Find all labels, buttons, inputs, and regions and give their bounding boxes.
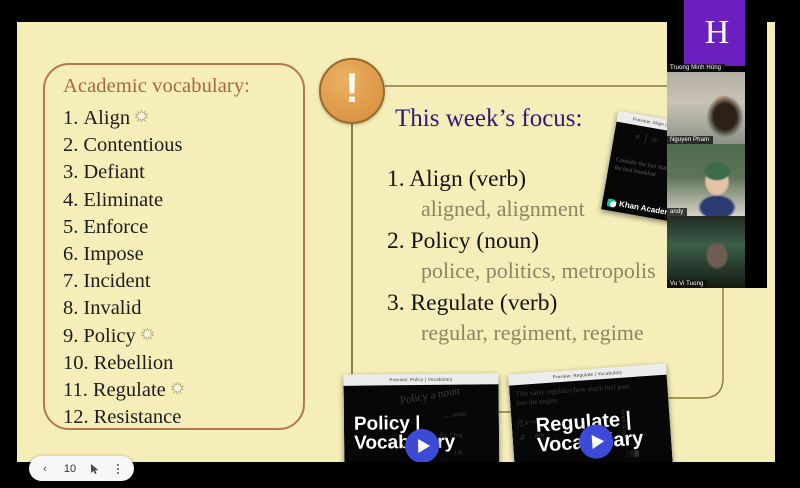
vocabulary-item-word: Align <box>83 105 130 132</box>
vocabulary-item-number: 8. <box>63 295 78 322</box>
tile-letterbox <box>745 0 767 72</box>
participant-video-strip[interactable]: H Truong Minh Hùng Nguyen Pham andy Vu V… <box>667 0 767 288</box>
sparkle-icon <box>135 110 148 123</box>
play-button[interactable] <box>405 429 439 462</box>
vocabulary-item-number: 3. <box>63 159 78 186</box>
attention-badge[interactable]: ! <box>319 58 385 124</box>
avatar: H <box>684 0 750 66</box>
vocabulary-item-word: Impose <box>83 241 143 268</box>
more-vertical-icon <box>117 464 119 474</box>
tile-letterbox <box>745 144 767 216</box>
participant-tile[interactable]: Vu Vi Tuong <box>667 216 767 288</box>
vocabulary-item: 1.Align <box>63 105 301 132</box>
more-options-button[interactable] <box>107 458 129 479</box>
focus-panel-title: This week’s focus: <box>395 105 582 133</box>
vocabulary-item-word: Incident <box>83 268 150 295</box>
vocabulary-panel-title: Academic vocabulary: <box>63 75 250 98</box>
vocabulary-item: 7.Incident <box>63 268 301 295</box>
sparkle-icon <box>141 328 154 341</box>
vocabulary-item-word: Regulate <box>93 377 166 404</box>
vocabulary-item-word: Enforce <box>83 214 148 241</box>
focus-item-forms: regular, regiment, regime <box>387 318 747 348</box>
slide-navigation-toolbar[interactable]: ‹ 10 <box>29 456 134 481</box>
vocabulary-item: 2.Contentious <box>63 132 301 159</box>
vocabulary-item-number: 6. <box>63 241 78 268</box>
slide-canvas[interactable]: Academic vocabulary: 1.Align2.Contentiou… <box>17 22 775 462</box>
participant-tile[interactable]: H Truong Minh Hùng <box>667 0 767 72</box>
vocabulary-item-number: 11. <box>63 377 88 404</box>
vocabulary-item-number: 9. <box>63 323 78 350</box>
vocabulary-item-word: Contentious <box>83 132 182 159</box>
vocabulary-item: 6.Impose <box>63 241 301 268</box>
vocabulary-item-word: Resistance <box>94 404 182 431</box>
vocabulary-item-word: Rebellion <box>94 350 174 377</box>
vocabulary-item: 11.Regulate <box>63 377 301 404</box>
participant-name: Truong Minh Hùng <box>667 64 725 73</box>
video-card-thumbnail[interactable]: Policy a noun ← noun Ex. Cong UK o'clock… <box>344 384 500 462</box>
focus-item: 3. Regulate (verb)regular, regiment, reg… <box>387 288 747 348</box>
participant-tile[interactable]: Nguyen Pham <box>667 72 767 144</box>
cursor-icon <box>90 463 101 475</box>
video-card-thumbnail[interactable]: This valve regulates how much fuel goes … <box>509 375 674 462</box>
participant-name: Vu Vi Tuong <box>667 280 707 289</box>
video-card-policy[interactable]: Preview: Policy | Vocabulary Policy a no… <box>343 373 499 462</box>
vocabulary-item: 5.Enforce <box>63 214 301 241</box>
vocabulary-item-number: 10. <box>63 350 89 377</box>
chevron-left-icon: ‹ <box>43 463 47 475</box>
sparkle-icon <box>171 382 184 395</box>
video-card-regulate[interactable]: Preview: Regulate | Vocabulary This valv… <box>508 364 674 462</box>
vocabulary-item-number: 5. <box>63 214 78 241</box>
vocabulary-item-word: Invalid <box>83 295 141 322</box>
khan-academy-leaf-icon <box>607 198 616 207</box>
vocabulary-item-word: Policy <box>83 323 135 350</box>
participant-tile[interactable]: andy <box>667 144 767 216</box>
vocabulary-item: 3.Defiant <box>63 159 301 186</box>
vocabulary-item-number: 1. <box>63 105 78 132</box>
previous-slide-button[interactable]: ‹ <box>34 458 56 479</box>
chalk-text: Policy a noun <box>399 385 461 407</box>
tile-letterbox <box>745 72 767 144</box>
vocabulary-item: 12.Resistance <box>63 404 301 431</box>
pointer-tool-button[interactable] <box>84 458 106 479</box>
vocabulary-item-word: Eliminate <box>83 187 163 214</box>
page-number[interactable]: 10 <box>57 463 83 475</box>
tile-letterbox <box>745 216 767 288</box>
vocabulary-item: 8.Invalid <box>63 295 301 322</box>
vocabulary-item: 10.Rebellion <box>63 350 301 377</box>
vocabulary-item-number: 12. <box>63 404 89 431</box>
vocabulary-list: 1.Align2.Contentious3.Defiant4.Eliminate… <box>63 105 301 431</box>
vocabulary-item-number: 7. <box>63 268 78 295</box>
vocabulary-item-number: 2. <box>63 132 78 159</box>
focus-item-word: 3. Regulate (verb) <box>387 288 747 318</box>
chalk-text: This valve regulates how much fuel goes … <box>515 382 636 408</box>
vocabulary-item-number: 4. <box>63 187 78 214</box>
screen-root: Academic vocabulary: 1.Align2.Contentiou… <box>0 0 800 488</box>
avatar-initial: H <box>705 14 730 52</box>
exclamation-icon: ! <box>345 67 359 109</box>
participant-name: andy <box>667 208 687 217</box>
vocabulary-item-word: Defiant <box>83 159 144 186</box>
vocabulary-item: 9.Policy <box>63 323 301 350</box>
vocabulary-item: 4.Eliminate <box>63 187 301 214</box>
academic-vocabulary-panel[interactable]: Academic vocabulary: 1.Align2.Contentiou… <box>43 63 305 430</box>
participant-name: Nguyen Pham <box>667 136 713 145</box>
